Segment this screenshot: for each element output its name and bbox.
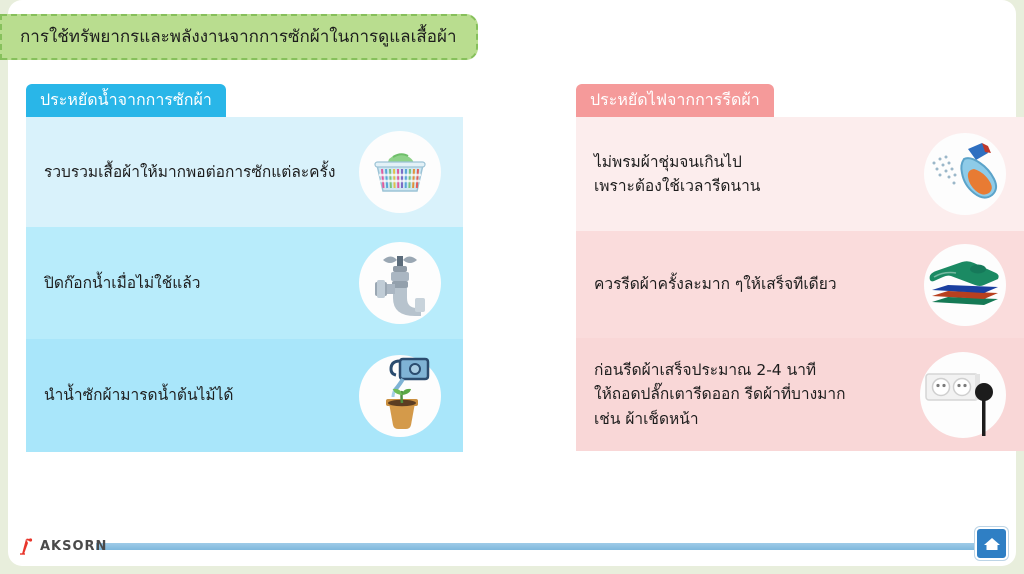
laundry-basket-icon bbox=[359, 131, 441, 213]
slide-title-banner: การใช้ทรัพยากรและพลังงานจากการซักผ้าในกา… bbox=[0, 14, 478, 60]
list-item-label: ไม่พรมผ้าชุ่มจนเกินไป เพราะต้องใช้เวลารี… bbox=[576, 150, 924, 198]
list-item-label: นำน้ำซักผ้ามารดน้ำต้นไม้ได้ bbox=[26, 383, 359, 407]
list-item: ควรรีดผ้าครั้งละมาก ๆให้เสร็จทีเดียว bbox=[576, 231, 1024, 338]
column-body-electricity: ไม่พรมผ้าชุ่มจนเกินไป เพราะต้องใช้เวลารี… bbox=[576, 117, 1024, 451]
aksorn-mark-icon bbox=[18, 537, 34, 555]
footer-divider-rule bbox=[96, 543, 986, 550]
list-item: ปิดก๊อกน้ำเมื่อไม่ใช้แล้ว bbox=[26, 227, 463, 339]
list-item: ก่อนรีดผ้าเสร็จประมาณ 2-4 นาที ให้ถอดปลั… bbox=[576, 338, 1024, 451]
list-item: รวบรวมเสื้อผ้าให้มากพอต่อการซักแต่ละครั้… bbox=[26, 117, 463, 227]
home-button[interactable] bbox=[975, 527, 1008, 560]
column-heading-water: ประหยัดน้ำจากการซักผ้า bbox=[26, 84, 226, 117]
home-icon bbox=[983, 536, 1001, 552]
list-item: นำน้ำซักผ้ามารดน้ำต้นไม้ได้ bbox=[26, 339, 463, 452]
list-item-label: รวบรวมเสื้อผ้าให้มากพอต่อการซักแต่ละครั้… bbox=[26, 160, 359, 184]
list-item: ไม่พรมผ้าชุ่มจนเกินไป เพราะต้องใช้เวลารี… bbox=[576, 117, 1024, 231]
column-electricity-saving: ประหยัดไฟจากการรีดผ้า ไม่พรมผ้าชุ่มจนเกิ… bbox=[576, 84, 1024, 451]
column-heading-electricity: ประหยัดไฟจากการรีดผ้า bbox=[576, 84, 774, 117]
column-water-saving: ประหยัดน้ำจากการซักผ้า รวบรวมเสื้อผ้าให้… bbox=[26, 84, 463, 452]
list-item-label: ควรรีดผ้าครั้งละมาก ๆให้เสร็จทีเดียว bbox=[576, 272, 924, 296]
column-body-water: รวบรวมเสื้อผ้าให้มากพอต่อการซักแต่ละครั้… bbox=[26, 117, 463, 452]
list-item-label: ปิดก๊อกน้ำเมื่อไม่ใช้แล้ว bbox=[26, 271, 359, 295]
slide-canvas: การใช้ทรัพยากรและพลังงานจากการซักผ้าในกา… bbox=[8, 0, 1016, 566]
aksorn-logo-text: AKSORN bbox=[40, 539, 107, 554]
spray-bottle-icon bbox=[924, 133, 1006, 215]
list-item-label: ก่อนรีดผ้าเสร็จประมาณ 2-4 นาที ให้ถอดปลั… bbox=[576, 358, 920, 430]
watering-can-plant-icon bbox=[359, 355, 441, 437]
aksorn-logo: AKSORN bbox=[18, 536, 107, 556]
power-plug-socket-icon bbox=[920, 352, 1006, 438]
folded-clothes-icon bbox=[924, 244, 1006, 326]
page-title: การใช้ทรัพยากรและพลังงานจากการซักผ้าในกา… bbox=[2, 27, 457, 47]
water-faucet-icon bbox=[359, 242, 441, 324]
